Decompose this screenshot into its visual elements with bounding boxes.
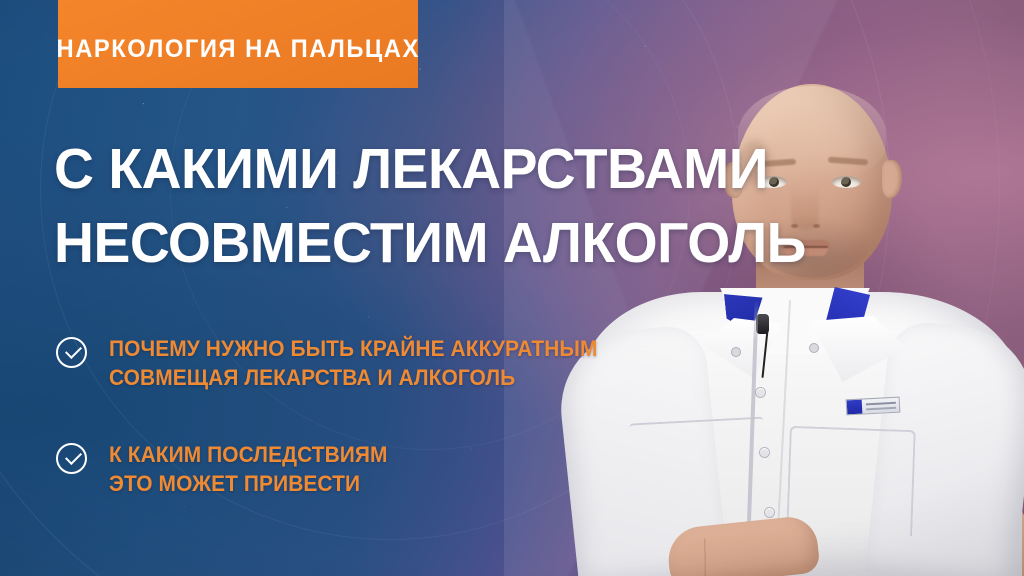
check-circle-icon	[56, 337, 87, 368]
category-banner: НАРКОЛОГИЯ НА ПАЛЬЦАХ	[58, 0, 418, 88]
bullet-2-line-1: К КАКИМ ПОСЛЕДСТВИЯМ	[109, 440, 388, 469]
thumbnail-canvas: НАРКОЛОГИЯ НА ПАЛЬЦАХ С КАКИМИ ЛЕКАРСТВА…	[0, 0, 1024, 576]
headline-line-1: С КАКИМИ ЛЕКАРСТВАМИ	[54, 132, 694, 206]
bullet-item-2: К КАКИМ ПОСЛЕДСТВИЯМ ЭТО МОЖЕТ ПРИВЕСТИ	[56, 440, 656, 498]
bullet-1-line-2: СОВМЕЩАЯ ЛЕКАРСТВА И АЛКОГОЛЬ	[109, 363, 598, 392]
bullet-list: ПОЧЕМУ НУЖНО БЫТЬ КРАЙНЕ АККУРАТНЫМ СОВМ…	[56, 334, 656, 546]
check-circle-icon	[56, 443, 87, 474]
headline: С КАКИМИ ЛЕКАРСТВАМИ НЕСОВМЕСТИМ АЛКОГОЛ…	[54, 132, 714, 280]
headline-line-2: НЕСОВМЕСТИМ АЛКОГОЛЬ	[54, 206, 694, 280]
bullet-item-1: ПОЧЕМУ НУЖНО БЫТЬ КРАЙНЕ АККУРАТНЫМ СОВМ…	[56, 334, 656, 392]
bullet-1-line-1: ПОЧЕМУ НУЖНО БЫТЬ КРАЙНЕ АККУРАТНЫМ	[109, 334, 598, 363]
bullet-item-1-text: ПОЧЕМУ НУЖНО БЫТЬ КРАЙНЕ АККУРАТНЫМ СОВМ…	[109, 334, 623, 392]
bullet-2-line-2: ЭТО МОЖЕТ ПРИВЕСТИ	[109, 469, 388, 498]
bullet-item-2-text: К КАКИМ ПОСЛЕДСТВИЯМ ЭТО МОЖЕТ ПРИВЕСТИ	[109, 440, 402, 498]
category-banner-label: НАРКОЛОГИЯ НА ПАЛЬЦАХ	[56, 25, 419, 64]
